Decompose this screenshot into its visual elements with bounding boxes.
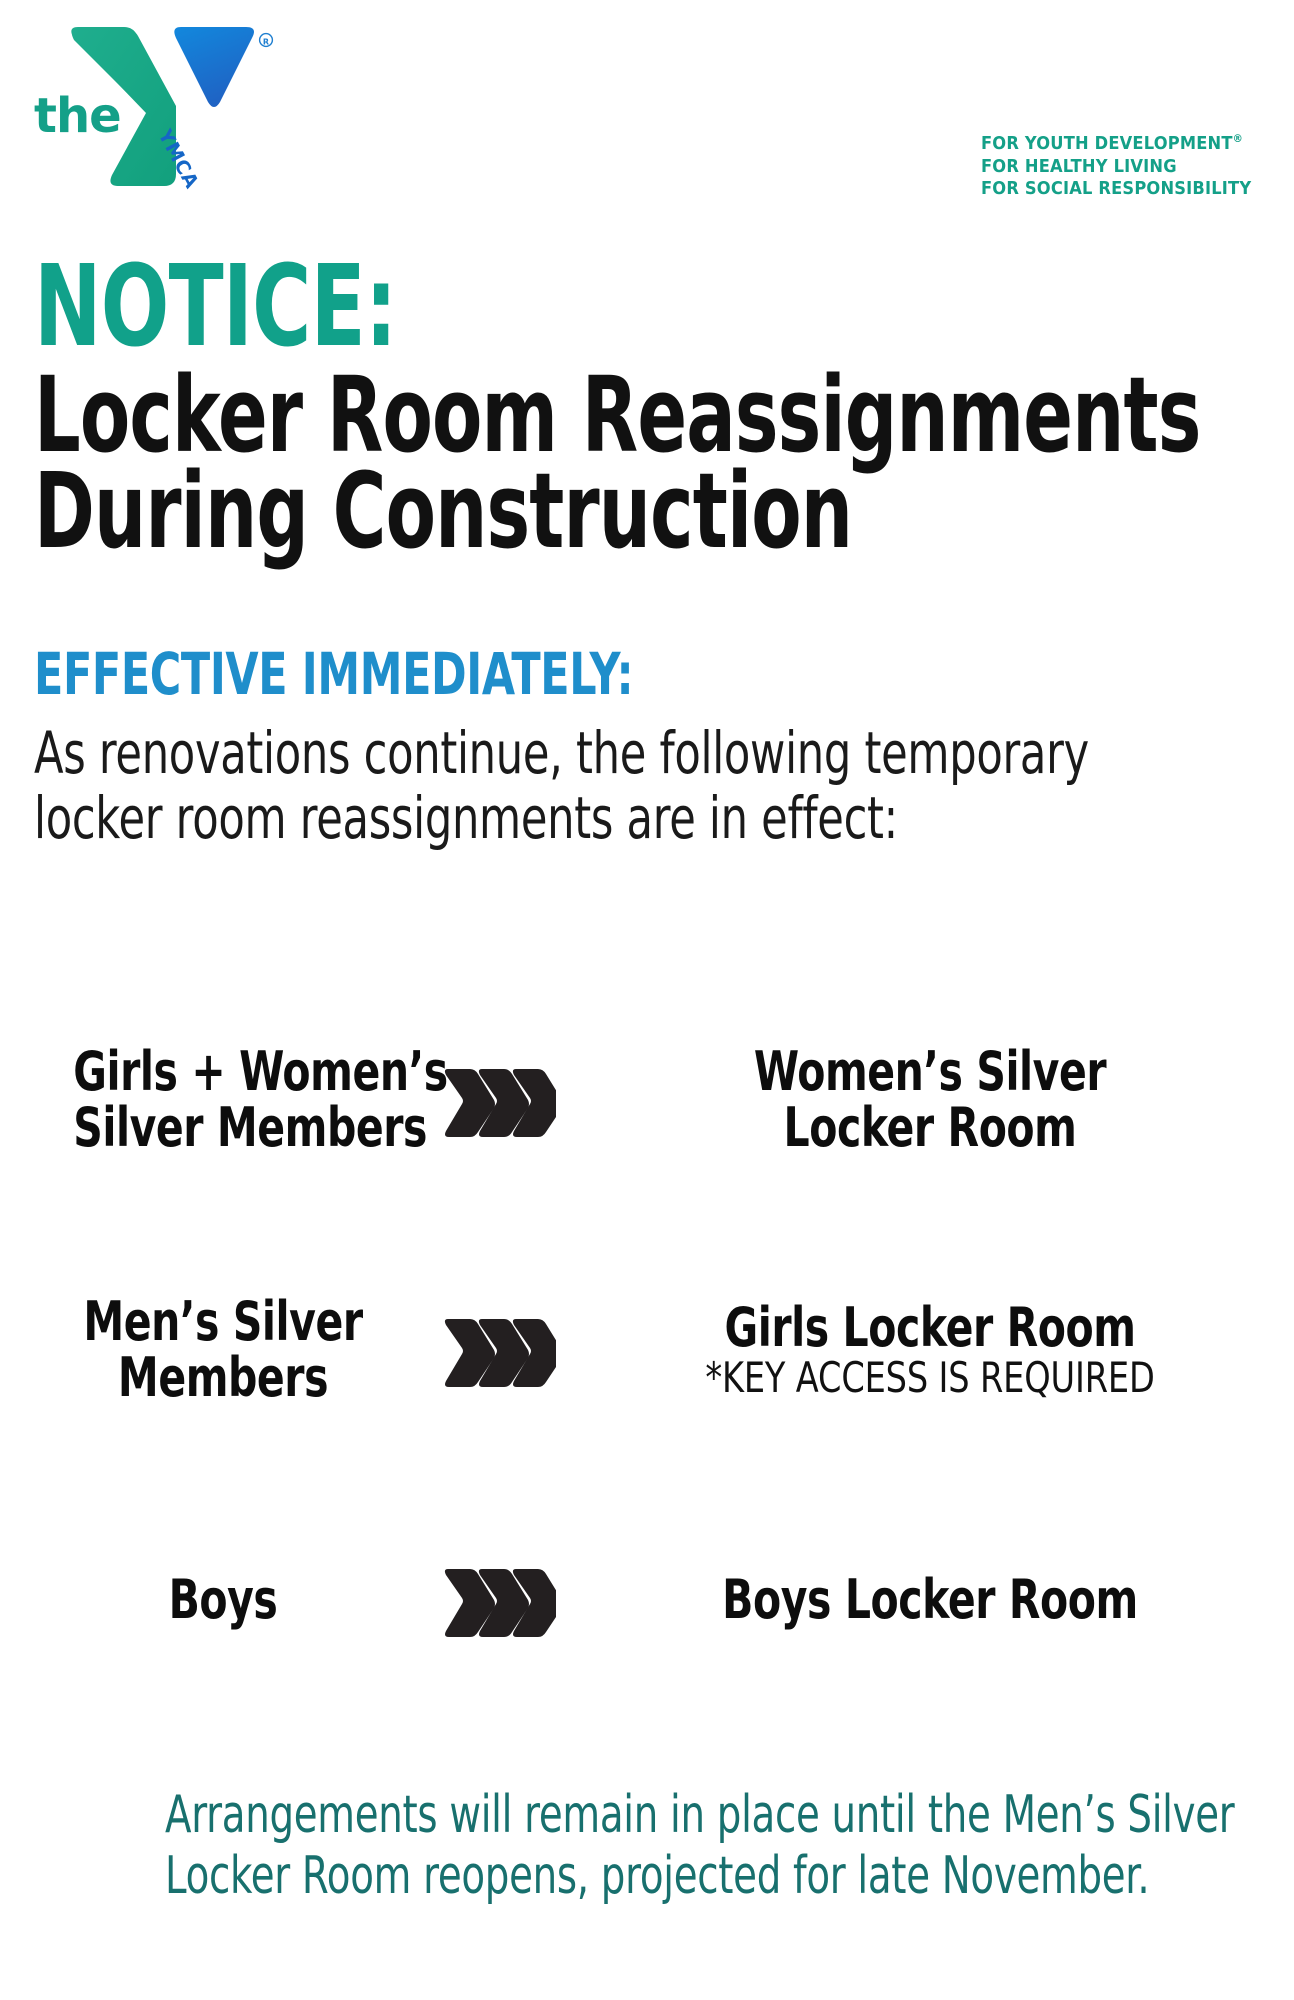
from-line-2: Silver Members (73, 1100, 372, 1156)
effective-immediately-label: EFFECTIVE IMMEDIATELY: (34, 645, 952, 703)
page-title: Locker Room Reassignments During Constru… (34, 367, 908, 560)
effective-body-text: As renovations continue, the following t… (34, 721, 958, 851)
reassignment-to: Girls Locker Room *KEY ACCESS IS REQUIRE… (580, 1300, 1294, 1400)
tagline-line-2: FOR HEALTHY LIVING (981, 156, 1251, 179)
reassignment-row: Men’s Silver Members Girls Locker Room (0, 1225, 1294, 1475)
to-line-1: Girls Locker Room (664, 1300, 1196, 1356)
reassignment-row: Boys Boys Locker Room (0, 1475, 1294, 1725)
poster-header: the YMCA R FOR YOUTH DEVELOPMENT® FOR HE… (0, 0, 1294, 215)
headline-line-1: Locker Room Reassignments (34, 367, 908, 464)
brand-tagline: FOR YOUTH DEVELOPMENT® FOR HEALTHY LIVIN… (981, 132, 1272, 201)
footer-line-1: Arrangements will remain in place until … (165, 1785, 1129, 1846)
triple-chevron-right-icon (420, 1313, 580, 1387)
reassignment-to: Boys Locker Room (580, 1572, 1294, 1628)
ymca-logo-mark: the YMCA R (28, 14, 278, 204)
notice-poster: the YMCA R FOR YOUTH DEVELOPMENT® FOR HE… (0, 0, 1294, 2000)
logo-the-text: the (34, 88, 121, 144)
reassignment-to: Women’s Silver Locker Room (580, 1044, 1294, 1156)
notice-label: NOTICE: (34, 258, 927, 357)
triple-chevron-right-icon (420, 1563, 580, 1637)
reassignment-from: Men’s Silver Members (0, 1294, 420, 1406)
to-line-1: Women’s Silver (664, 1044, 1196, 1100)
from-line-1: Girls + Women’s (73, 1044, 372, 1100)
tagline-registered-icon: ® (1233, 132, 1243, 145)
footer-line-2: Locker Room reopens, projected for late … (165, 1846, 1129, 1907)
effective-block: EFFECTIVE IMMEDIATELY: As renovations co… (34, 645, 1274, 851)
key-access-note: *KEY ACCESS IS REQUIRED (650, 1356, 1210, 1400)
tagline-line-1: FOR YOUTH DEVELOPMENT® (981, 132, 1251, 156)
from-line-1: Men’s Silver (73, 1294, 372, 1350)
to-line-2: Locker Room (664, 1100, 1196, 1156)
reassignment-from: Girls + Women’s Silver Members (0, 1044, 420, 1156)
poster-title-block: NOTICE: Locker Room Reassignments During… (34, 258, 1274, 560)
effective-body-line-1: As renovations continue, the following t… (34, 721, 958, 786)
from-line-2: Members (73, 1350, 372, 1406)
svg-text:R: R (263, 38, 269, 47)
reassignment-from: Boys (0, 1572, 420, 1628)
ymca-logo: the YMCA R (28, 14, 278, 204)
from-line-1: Boys (73, 1572, 372, 1628)
reassignment-list: Girls + Women’s Silver Members Women’s S… (0, 975, 1294, 1725)
reassignment-row: Girls + Women’s Silver Members Women’s S… (0, 975, 1294, 1225)
headline-line-2: During Construction (34, 463, 908, 560)
logo-registered-icon: R (260, 34, 273, 47)
effective-body-line-2: locker room reassignments are in effect: (34, 786, 958, 851)
poster-footer: Arrangements will remain in place until … (0, 1785, 1294, 1908)
to-line-1: Boys Locker Room (664, 1572, 1196, 1628)
tagline-line-3: FOR SOCIAL RESPONSIBILITY (981, 178, 1251, 201)
